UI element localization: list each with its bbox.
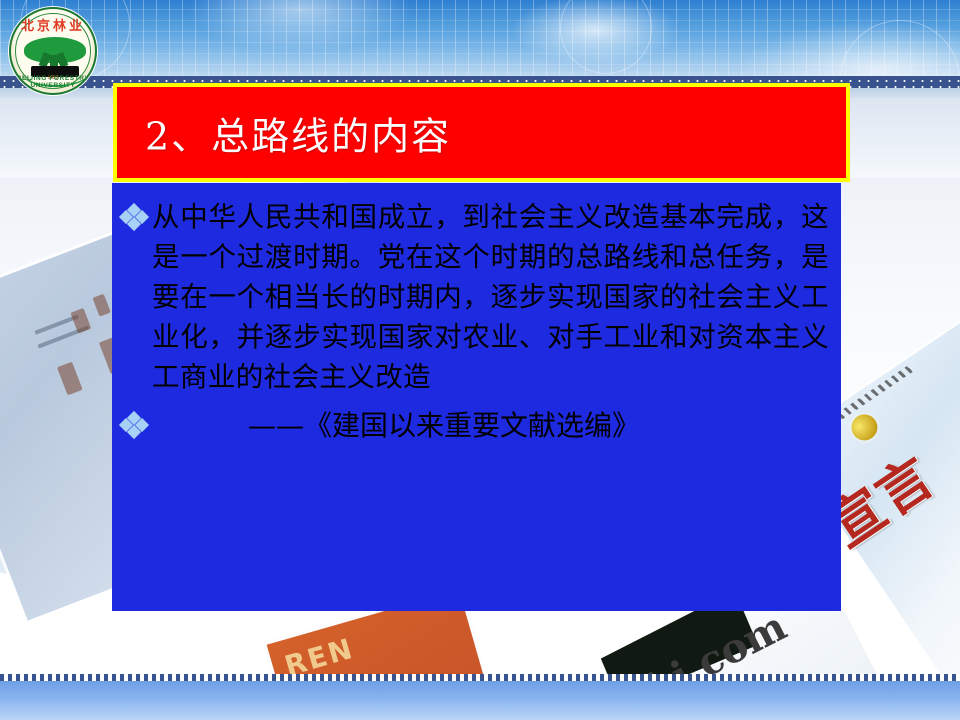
- slide-content-box: 从中华人民共和国成立，到社会主义改造基本完成，这是一个过渡时期。党在这个时期的总…: [112, 183, 841, 611]
- citation-text: ——《建国以来重要文献选编》: [152, 405, 835, 447]
- banner-grid-overlay: [0, 0, 960, 76]
- slide-title-box: 2、总路线的内容: [113, 83, 850, 182]
- body-paragraph: 从中华人民共和国成立，到社会主义改造基本完成，这是一个过渡时期。党在这个时期的总…: [152, 197, 835, 397]
- four-diamond-bullet-icon: [121, 413, 147, 437]
- page-title: 2、总路线的内容: [145, 105, 451, 160]
- footer-gradient-bar: [0, 681, 960, 720]
- footer-dashed-rule: [0, 674, 960, 681]
- bullet-item-citation: ——《建国以来重要文献选编》: [118, 405, 835, 447]
- bullet-marker-citation: [118, 405, 152, 437]
- bullet-marker: [118, 197, 152, 229]
- bullet-item-paragraph: 从中华人民共和国成立，到社会主义改造基本完成，这是一个过渡时期。党在这个时期的总…: [118, 197, 835, 397]
- logo-english-text: BEIJING FORESTRY UNIVERSITY: [11, 75, 95, 89]
- presentation-slide: 宣言 REN cnki.com 北京林业 1952 BEIJING FOREST…: [0, 0, 960, 720]
- logo-chinese-text: 北京林业: [11, 15, 95, 34]
- sky-banner: [0, 0, 960, 76]
- four-diamond-bullet-icon: [121, 205, 147, 229]
- university-logo: 北京林业 1952 BEIJING FORESTRY UNIVERSITY: [9, 7, 97, 95]
